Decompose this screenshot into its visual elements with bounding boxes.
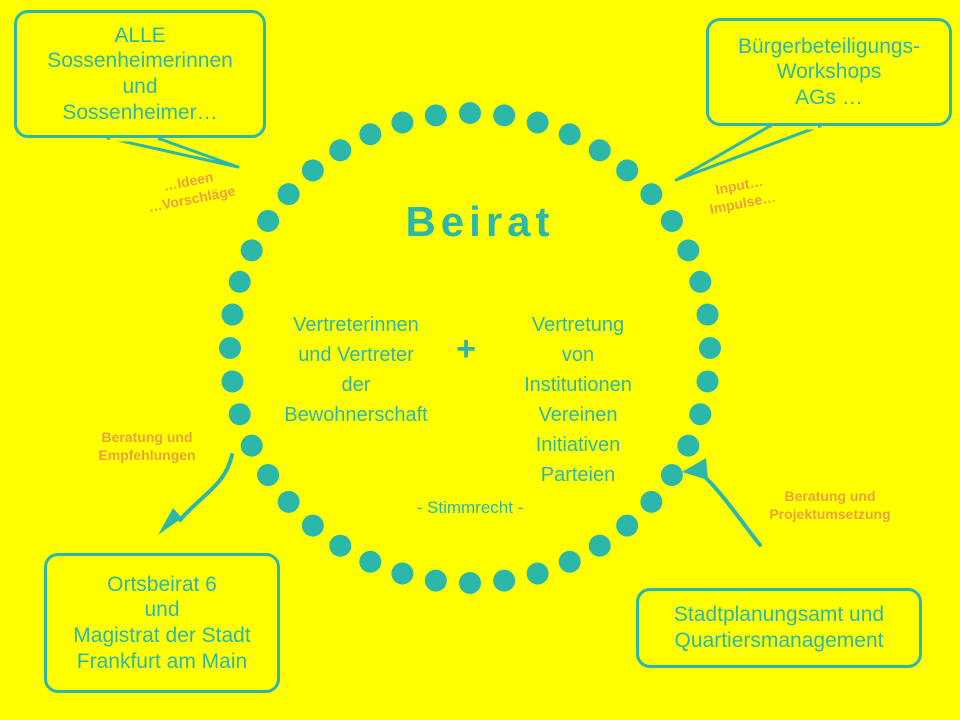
callout-bottom-right-line-1: Stadtplanungsamt und bbox=[647, 602, 911, 628]
circle-dot bbox=[221, 304, 243, 326]
callout-top-left: ALLE Sossenheimerinnen und Sossenheimer… bbox=[14, 10, 266, 138]
circle-dot bbox=[278, 491, 300, 513]
arrow-right-orange-head bbox=[682, 458, 708, 480]
circle-dot bbox=[616, 515, 638, 537]
center-left-line-4: Bewohnerschaft bbox=[268, 400, 444, 430]
circle-dot bbox=[359, 123, 381, 145]
circle-dot bbox=[425, 570, 447, 592]
diagram-canvas: ALLE Sossenheimerinnen und Sossenheimer…… bbox=[0, 0, 960, 720]
circle-dot bbox=[459, 102, 481, 124]
circle-dot bbox=[559, 551, 581, 573]
callout-bottom-left: Ortsbeirat 6 und Magistrat der Stadt Fra… bbox=[44, 553, 280, 693]
circle-dot bbox=[589, 535, 611, 557]
arrow-left-orange-head bbox=[158, 508, 182, 535]
circle-dot bbox=[640, 491, 662, 513]
callout-bottom-left-line-1: Ortsbeirat 6 bbox=[55, 572, 269, 598]
circle-dot bbox=[329, 535, 351, 557]
center-right-line-3: Institutionen bbox=[490, 370, 666, 400]
callout-top-left-line-3: und bbox=[25, 74, 255, 100]
callout-bottom-right-line-2: Quartiersmanagement bbox=[647, 628, 911, 654]
circle-dot bbox=[677, 435, 699, 457]
circle-dot bbox=[459, 572, 481, 594]
callout-tail-top-left bbox=[108, 138, 238, 167]
callout-top-right-line-2: Workshops bbox=[717, 59, 941, 85]
circle-dot bbox=[241, 435, 263, 457]
circle-dot bbox=[302, 515, 324, 537]
arrow-label-beratung-left: Beratung und Empfehlungen bbox=[62, 428, 232, 464]
callout-top-left-line-4: Sossenheimer… bbox=[25, 100, 255, 126]
circle-dot bbox=[527, 562, 549, 584]
arrow-label-beratung-left-line-2: Empfehlungen bbox=[62, 446, 232, 464]
center-right-line-1: Vertretung bbox=[490, 310, 666, 340]
circle-dot bbox=[697, 370, 719, 392]
center-left-line-3: der bbox=[268, 370, 444, 400]
center-left-column: Vertreterinnen und Vertreter der Bewohne… bbox=[268, 310, 444, 430]
center-left-line-1: Vertreterinnen bbox=[268, 310, 444, 340]
circle-dot bbox=[329, 139, 351, 161]
center-right-line-5: Initiativen bbox=[490, 430, 666, 460]
circle-dot bbox=[699, 337, 721, 359]
circle-dot bbox=[229, 271, 251, 293]
callout-top-left-line-1: ALLE bbox=[25, 23, 255, 49]
circle-dot bbox=[689, 271, 711, 293]
circle-dot bbox=[221, 370, 243, 392]
circle-dot bbox=[527, 112, 549, 134]
center-right-column: Vertretung von Institutionen Vereinen In… bbox=[490, 310, 666, 490]
callout-bottom-left-line-2: und bbox=[55, 597, 269, 623]
circle-dot bbox=[493, 570, 515, 592]
circle-dot bbox=[559, 123, 581, 145]
center-right-line-6: Parteien bbox=[490, 460, 666, 490]
circle-dot bbox=[257, 464, 279, 486]
callout-top-right-line-3: AGs … bbox=[717, 85, 941, 111]
circle-dot bbox=[589, 139, 611, 161]
circle-dot bbox=[359, 551, 381, 573]
circle-dot bbox=[302, 159, 324, 181]
callout-top-left-line-2: Sossenheimerinnen bbox=[25, 48, 255, 74]
circle-dot bbox=[493, 104, 515, 126]
arrow-label-beratung-left-line-1: Beratung und bbox=[62, 428, 232, 446]
circle-dot bbox=[391, 112, 413, 134]
circle-dot bbox=[219, 337, 241, 359]
circle-dot bbox=[697, 304, 719, 326]
callout-bottom-right: Stadtplanungsamt und Quartiersmanagement bbox=[636, 588, 922, 668]
center-right-line-4: Vereinen bbox=[490, 400, 666, 430]
center-left-line-2: und Vertreter bbox=[268, 340, 444, 370]
callout-bottom-left-line-3: Magistrat der Stadt bbox=[55, 623, 269, 649]
circle-dot bbox=[391, 562, 413, 584]
circle-dot bbox=[229, 403, 251, 425]
center-right-line-2: von bbox=[490, 340, 666, 370]
plus-symbol: + bbox=[444, 330, 488, 369]
arrow-label-beratung-right: Beratung und Projektumsetzung bbox=[742, 487, 918, 523]
callout-top-right: Bürgerbeteiligungs- Workshops AGs … bbox=[706, 18, 952, 126]
callout-tail-top-right bbox=[676, 126, 820, 180]
callout-top-right-line-1: Bürgerbeteiligungs- bbox=[717, 34, 941, 60]
arrow-label-beratung-right-line-1: Beratung und bbox=[742, 487, 918, 505]
circle-dot bbox=[425, 104, 447, 126]
callout-bottom-left-line-4: Frankfurt am Main bbox=[55, 649, 269, 675]
arrow-label-beratung-right-line-2: Projektumsetzung bbox=[742, 505, 918, 523]
circle-dot bbox=[689, 403, 711, 425]
center-footnote: - Stimmrecht - bbox=[330, 498, 610, 518]
arrow-left-orange bbox=[180, 455, 232, 520]
circle-dot bbox=[616, 159, 638, 181]
